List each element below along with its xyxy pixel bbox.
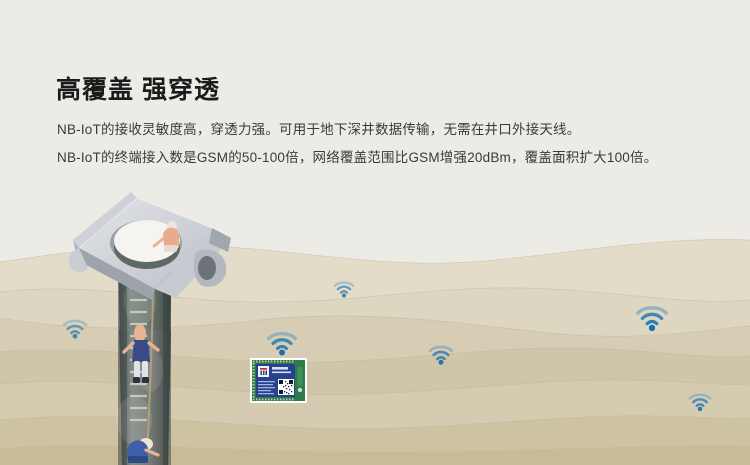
qr-code <box>278 379 294 395</box>
description-line-1: NB-IoT的接收灵敏度高，穿透力强。可用于地下深井数据传输，无需在井口外接天线… <box>57 118 580 138</box>
signal-icon-right-upper <box>635 304 669 338</box>
signal-icon-right-lower <box>688 392 712 416</box>
slab-arch-hole <box>198 256 216 280</box>
signal-icon-mid-top <box>333 280 355 302</box>
signal-icon-mid-right <box>428 344 454 370</box>
brand-logo-icon <box>260 368 267 370</box>
signal-icon-left <box>62 318 88 344</box>
nbiot-module-card-group <box>250 358 307 403</box>
nbiot-coverage-banner: 高覆盖 强穿透 NB-IoT的接收灵敏度高，穿透力强。可用于地下深井数据传输，无… <box>0 0 750 465</box>
module-antenna-pad <box>298 367 303 386</box>
page-title: 高覆盖 强穿透 <box>56 70 220 106</box>
signal-icon-center <box>266 330 298 362</box>
module-via <box>298 388 302 392</box>
description-line-2: NB-IoT的终端接入数是GSM的50-100倍，网络覆盖范围比GSM增强20d… <box>57 146 657 166</box>
